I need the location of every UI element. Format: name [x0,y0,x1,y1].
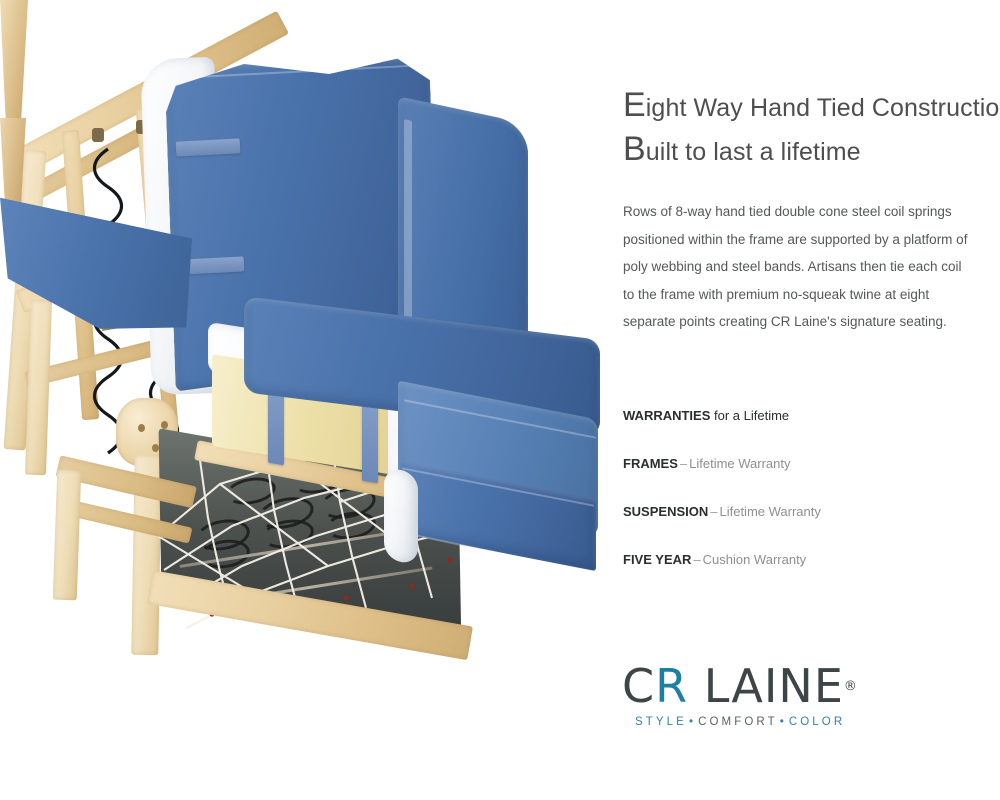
wood-rear-leg [53,470,82,601]
tagline-style: STYLE [635,716,687,728]
logo-laine-text: LAINE [688,659,844,713]
logo-letter-r: R [655,659,688,713]
warranty-item-five-year: FIVE YEAR–Cushion Warranty [623,552,963,568]
copy-panel: Eight Way Hand Tied Construction... Buil… [620,0,1000,800]
registered-trademark-icon: ® [844,679,857,694]
tagline-comfort: COMFORT [698,716,778,728]
wood-front-leg [0,0,28,118]
headline-dropcap-b: B [623,130,646,168]
warranties-heading-term: WARRANTIES [623,408,710,423]
tagline-bullet-icon: • [778,716,789,728]
warranty-desc-five-year: Cushion Warranty [703,552,807,567]
warranty-item-suspension: SUSPENSION–Lifetime Warranty [623,504,963,520]
cr-laine-logo: CR LAINE® STYLE•COMFORT•COLOR [622,660,882,728]
warranty-desc-suspension: Lifetime Warranty [719,504,820,519]
tagline-color: COLOR [789,716,845,728]
photo-stage [0,0,620,800]
headline-line-1: Eight Way Hand Tied Construction... [623,86,993,130]
warranty-separator: – [691,552,702,567]
headline-block: Eight Way Hand Tied Construction... Buil… [623,86,993,174]
dowel-hole-icon [138,424,145,432]
headline-line-2: Built to last a lifetime [623,130,993,174]
seat-corner-batting [384,467,418,565]
headline-line-1-text: ight Way Hand Tied Construction... [646,94,1000,122]
chair-construction-photo [0,0,620,800]
tagline-bullet-icon: • [687,716,698,728]
marketing-page: Eight Way Hand Tied Construction... Buil… [0,0,1000,800]
warranty-separator: – [708,504,719,519]
warranties-heading-rest: for a Lifetime [714,408,789,423]
spring-clip-one [92,128,104,142]
logo-wordmark: CR LAINE® [622,660,882,713]
headline-line-2-text: uilt to last a lifetime [646,138,861,166]
logo-tagline: STYLE•COMFORT•COLOR [635,716,882,728]
logo-letter-c: C [622,659,655,713]
warranty-desc-frames: Lifetime Warranty [689,456,790,471]
warranty-item-frames: FRAMES–Lifetime Warranty [623,456,963,472]
warranty-term-five-year: FIVE YEAR [623,552,691,567]
dowel-hole-icon [161,421,168,429]
warranty-term-frames: FRAMES [623,456,678,471]
warranty-separator: – [678,456,689,471]
warranty-term-suspension: SUSPENSION [623,504,708,519]
body-paragraph: Rows of 8-way hand tied double cone stee… [623,198,973,336]
warranties-heading: WARRANTIES for a Lifetime [623,408,963,424]
headline-dropcap-e: E [623,86,646,124]
warranties-list: WARRANTIES for a Lifetime FRAMES–Lifetim… [623,408,963,600]
